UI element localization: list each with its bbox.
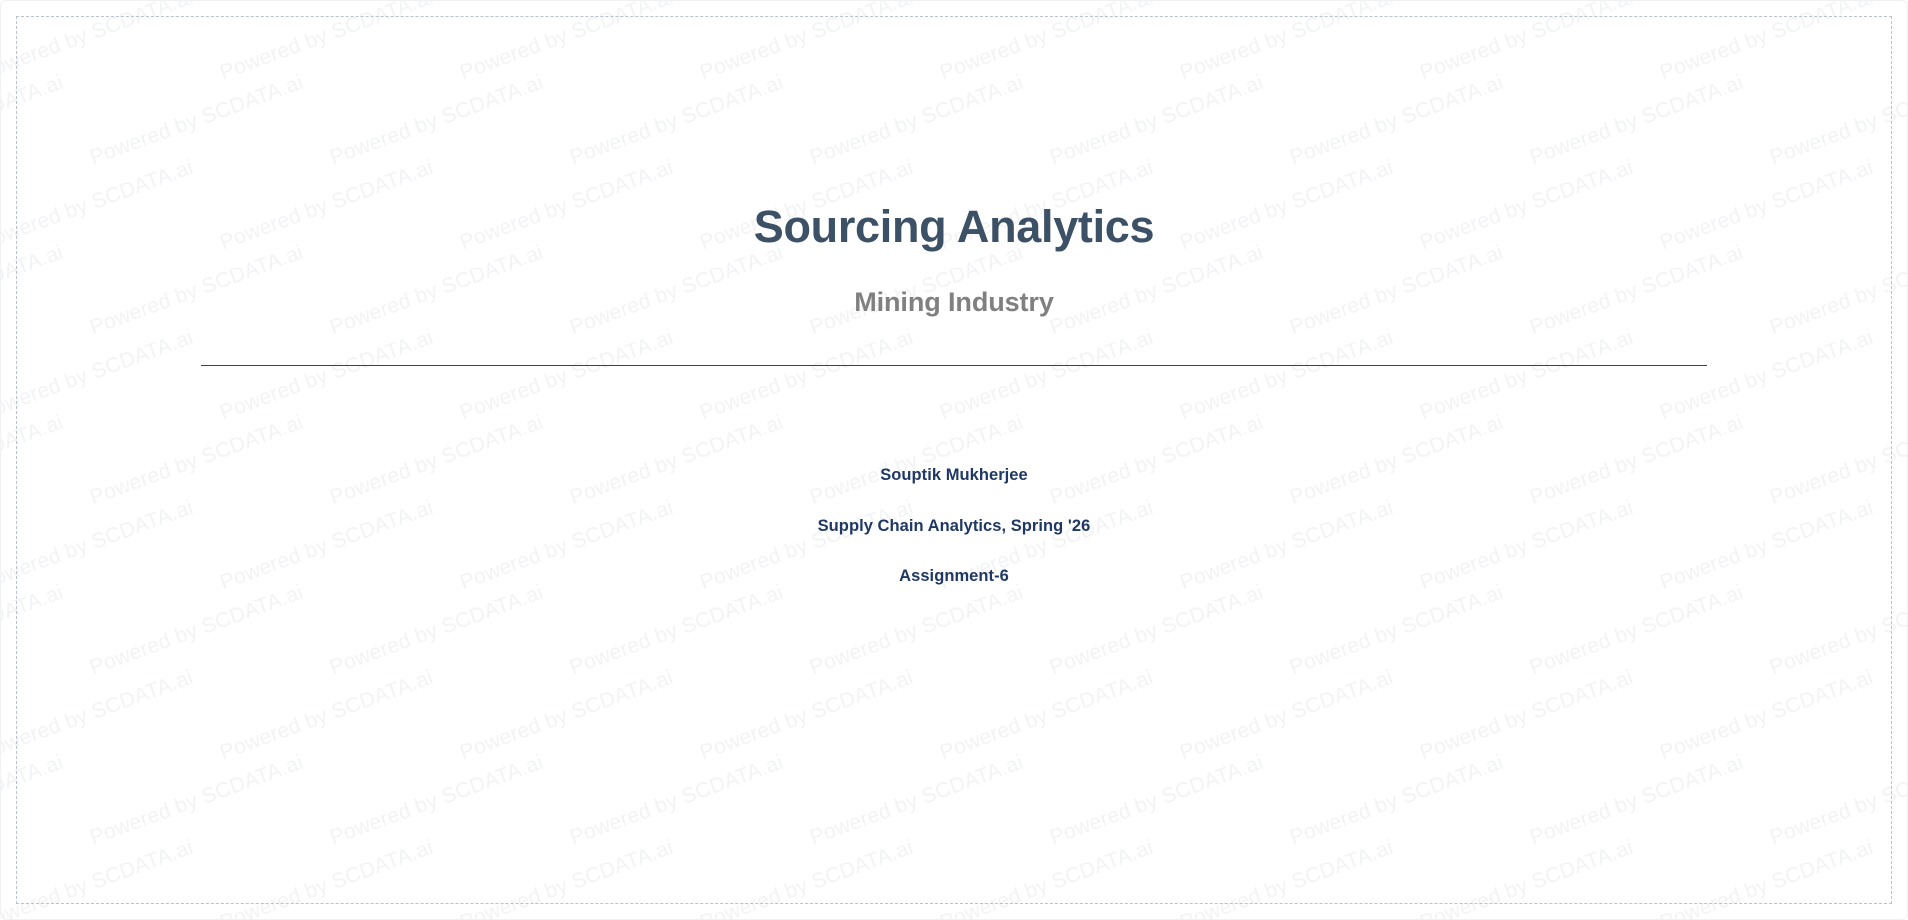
title-block: Sourcing Analytics Mining Industry: [1, 201, 1907, 318]
page-subtitle: Mining Industry: [1, 253, 1907, 318]
assignment-label: Assignment-6: [1, 568, 1907, 585]
course-term: Supply Chain Analytics, Spring '26: [1, 518, 1907, 535]
slide-canvas: Powered by SCDATA.aiPowered by SCDATA.ai…: [0, 0, 1908, 920]
author-meta-block: Souptik Mukherjee Supply Chain Analytics…: [1, 467, 1907, 585]
author-name: Souptik Mukherjee: [1, 467, 1907, 484]
page-title: Sourcing Analytics: [1, 201, 1907, 253]
title-divider: [201, 365, 1707, 366]
slide-content: Sourcing Analytics Mining Industry Soupt…: [1, 1, 1907, 919]
